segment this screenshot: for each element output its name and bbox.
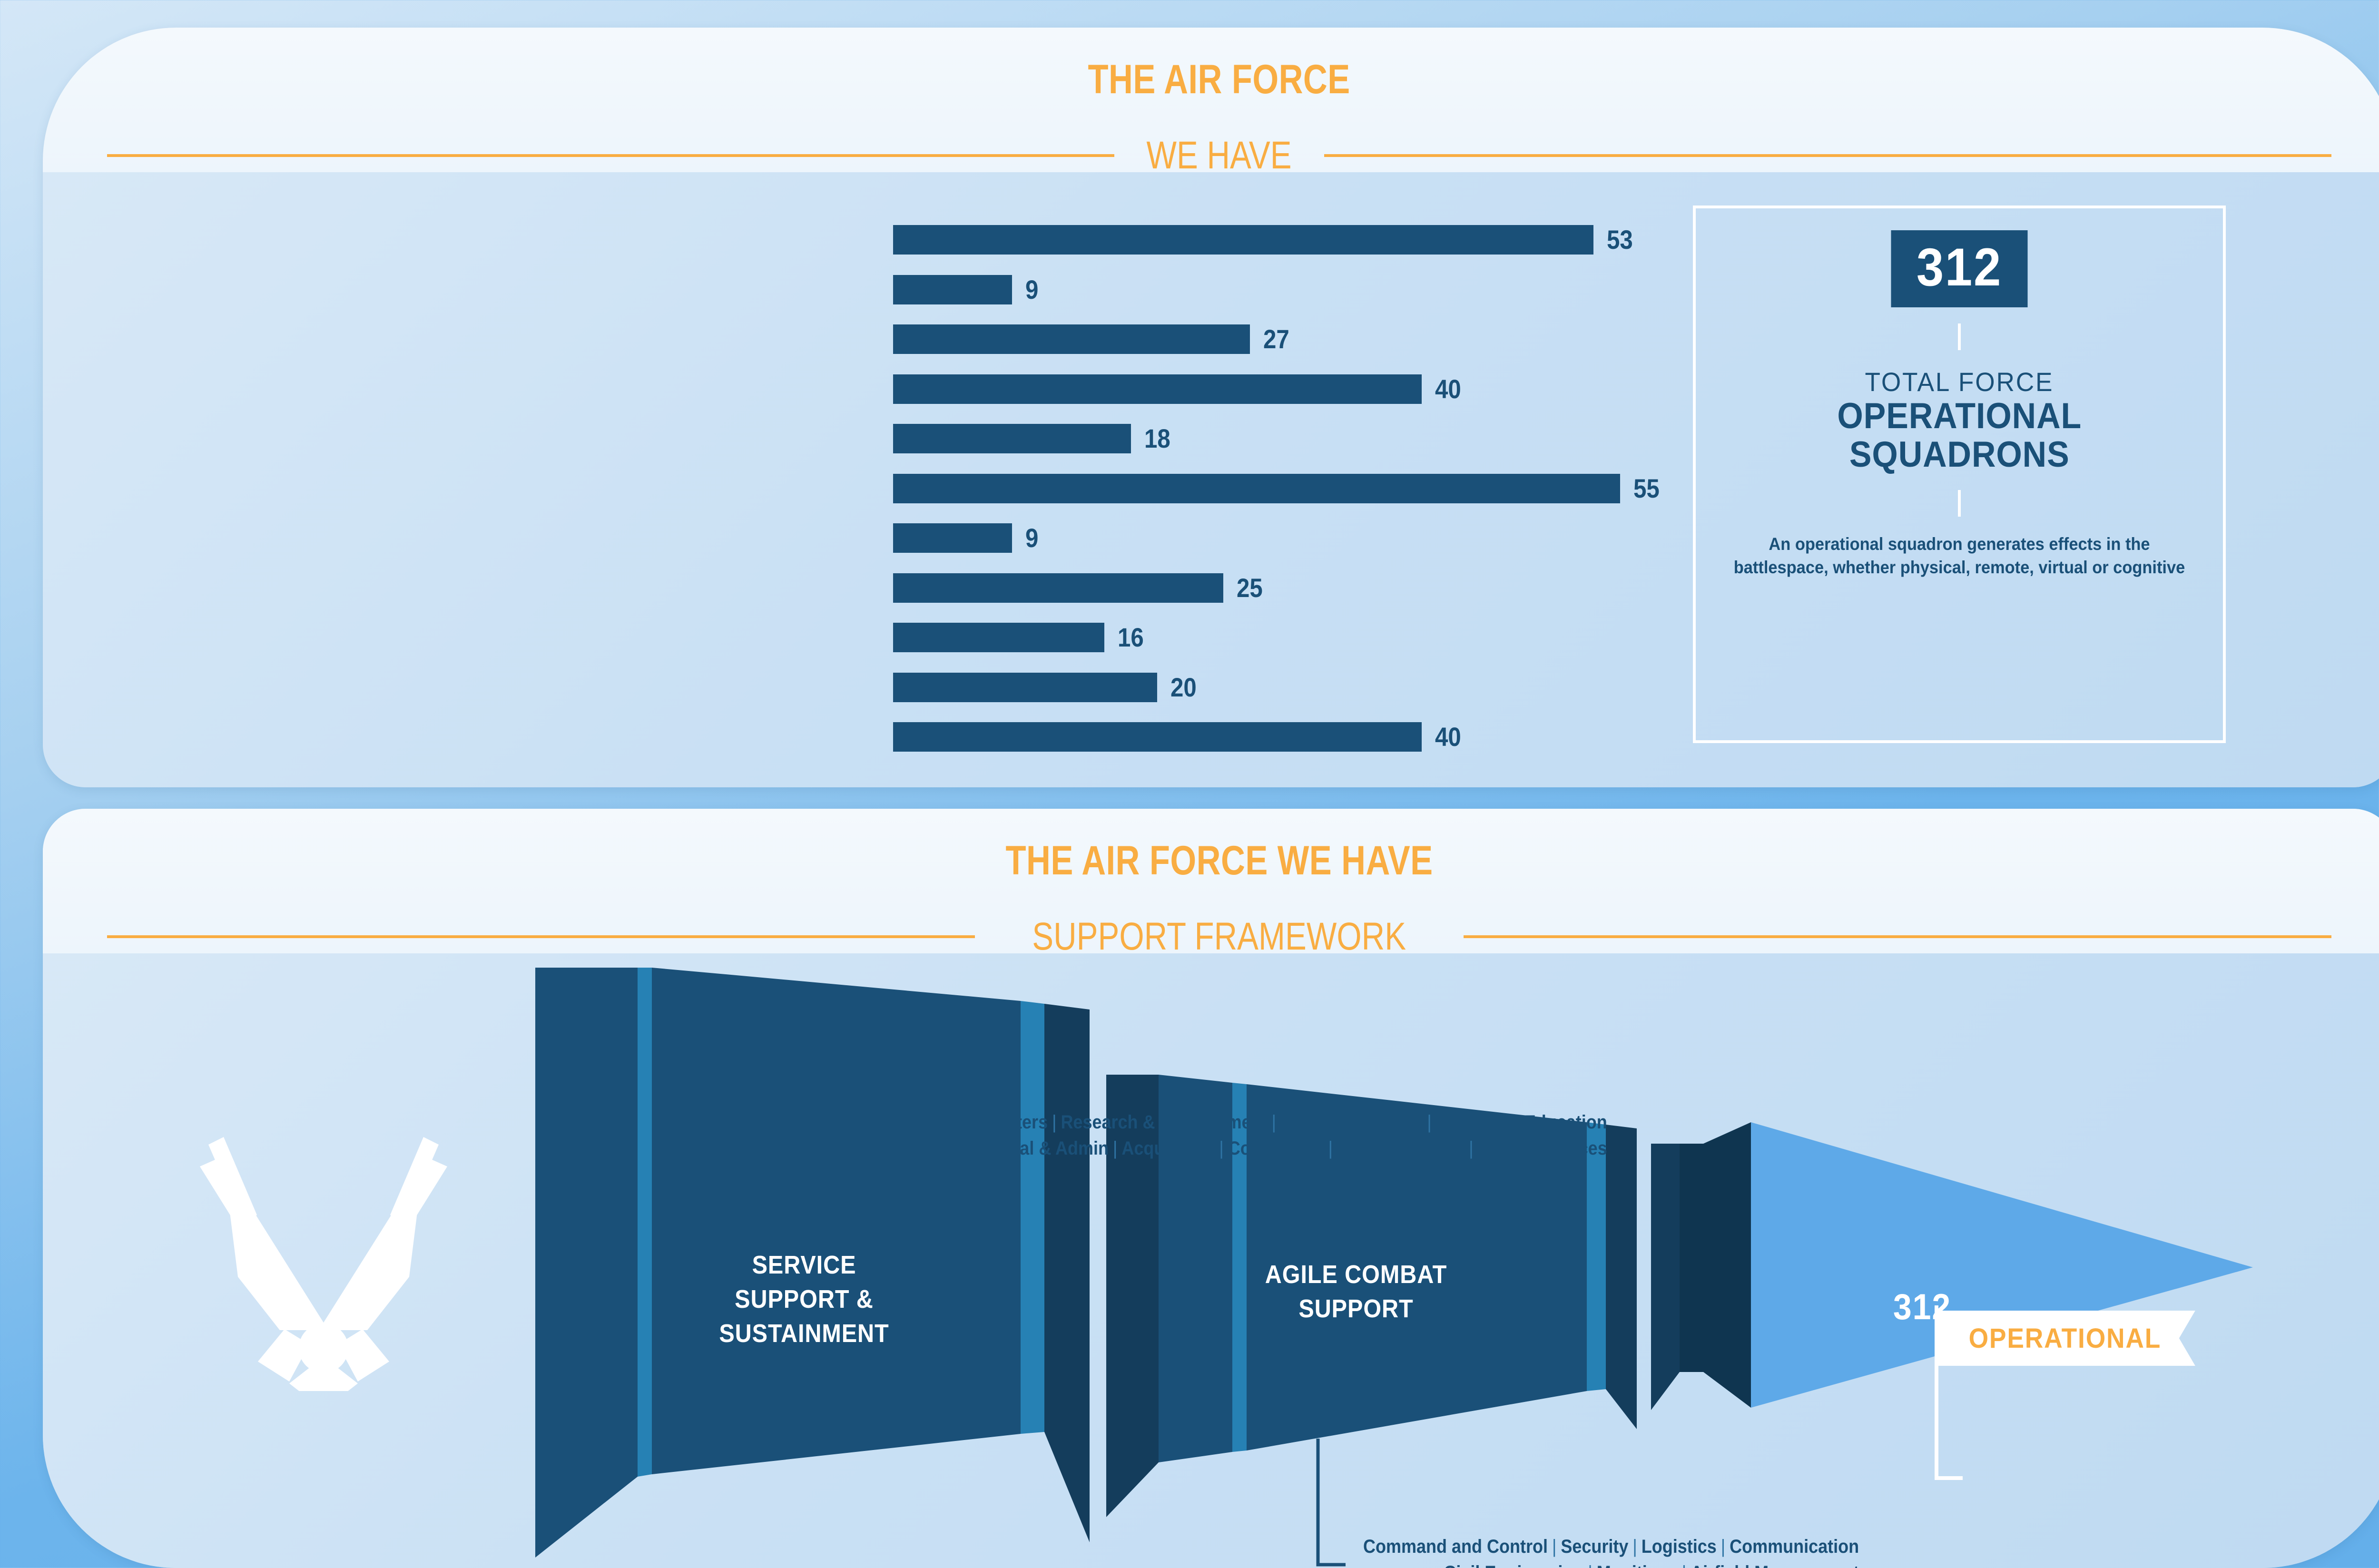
callout-line: Legal & Admin|Acquisition|Contracting|He… — [937, 1136, 1607, 1162]
funnel-stage1-shadow — [1044, 1004, 1090, 1542]
operational-banner-label: OPERATIONAL — [1969, 1323, 2162, 1354]
funnel-stage1-face — [652, 968, 1021, 1474]
bar-value-label: 16 — [1118, 624, 1144, 651]
callout-item: Communication — [1730, 1536, 1859, 1557]
callout-separator: | — [1324, 1138, 1337, 1159]
callout-item: Legal & Admin — [989, 1138, 1109, 1159]
bar — [893, 673, 1157, 702]
callout-separator: | — [1548, 1536, 1561, 1557]
operational-squadrons-bar-chart: Airlift53Bombers9Combat Search & Rescue2… — [43, 172, 1756, 786]
callout-item: Training & Education — [1436, 1112, 1607, 1133]
operational-banner: OPERATIONAL — [1936, 1311, 2195, 1366]
bar-value-label: 40 — [1435, 376, 1461, 402]
bar-value-label: 55 — [1633, 475, 1660, 502]
callout-separator: | — [1109, 1138, 1121, 1159]
callout-item: Contracting — [1228, 1138, 1324, 1159]
callout-line: Civil Engineering|Munitions|Airfield Man… — [1363, 1560, 1859, 1568]
callout-service-support-items: Headquarters|Research & Development|Test… — [937, 1109, 1607, 1162]
air-force-we-have-card: THE AIR FORCE WE HAVE Airlift53Bombers9C… — [43, 28, 2379, 787]
bar — [893, 424, 1131, 453]
callout-separator: | — [1465, 1138, 1477, 1159]
connector-dash-top — [1958, 323, 1961, 350]
page-subtitle: WE HAVE — [1133, 136, 1305, 175]
bar — [893, 722, 1422, 752]
framework-subtitle: SUPPORT FRAMEWORK — [1019, 917, 1420, 956]
bar-value-label: 20 — [1170, 674, 1197, 701]
framework-title: THE AIR FORCE WE HAVE — [1006, 840, 1433, 881]
callout-item: Munitions — [1597, 1562, 1678, 1568]
bar — [893, 374, 1422, 404]
squadrons-label: SQUADRONS — [1837, 436, 2082, 474]
funnel-stage1-edge-left — [535, 968, 638, 1558]
rule-left — [107, 935, 975, 938]
total-force-panel: 312 TOTAL FORCE OPERATIONAL SQUADRONS An… — [1693, 206, 2226, 743]
callout-separator: | — [1423, 1112, 1435, 1133]
bar — [893, 225, 1593, 255]
bar-value-label: 9 — [1025, 525, 1038, 551]
bar — [893, 324, 1250, 354]
operational-squadron-definition: An operational squadron generates effect… — [1714, 533, 2204, 579]
bar — [893, 474, 1620, 503]
callout-leader-bottom — [1318, 1439, 1346, 1565]
rule-right — [1464, 935, 2331, 938]
funnel-stage2-shadow — [1606, 1125, 1637, 1429]
callout-separator: | — [1048, 1112, 1061, 1133]
top-card-title-rule-row: WE HAVE — [43, 136, 2379, 175]
rule-left — [107, 154, 1114, 157]
bar-value-label: 9 — [1025, 276, 1038, 303]
callout-item: Research & Development — [1061, 1112, 1267, 1133]
funnel-stage2-label: AGILE COMBAT SUPPORT — [1262, 1258, 1450, 1326]
callout-separator: | — [1215, 1138, 1228, 1159]
callout-item: Airfield Management — [1691, 1562, 1859, 1568]
funnel-stage3-edge — [1651, 1144, 1680, 1410]
funnel-stage2-stripe2 — [1587, 1122, 1606, 1391]
callout-item: Acquisition — [1121, 1138, 1215, 1159]
funnel-stage1-stripe — [638, 968, 652, 1477]
callout-item: Health Services — [1337, 1138, 1465, 1159]
support-framework-card: THE AIR FORCE WE HAVE SUPPORT FRAMEWORK — [43, 809, 2379, 1568]
bar — [893, 275, 1012, 304]
callout-item: Test & Evaluation — [1280, 1112, 1423, 1133]
bar — [893, 623, 1104, 652]
bar-value-label: 53 — [1607, 226, 1633, 253]
callout-item: Logistics — [1642, 1536, 1717, 1557]
funnel-stage1-stripe2 — [1021, 1001, 1044, 1434]
connector-dash-bottom — [1958, 490, 1961, 517]
callout-line: Command and Control|Security|Logistics|C… — [1363, 1534, 1859, 1560]
bar — [893, 523, 1012, 553]
stage1-line3: SUSTAINMENT — [710, 1317, 898, 1351]
callout-separator: | — [1628, 1536, 1641, 1557]
bar-value-label: 27 — [1263, 326, 1289, 353]
stage1-line2: SUPPORT & — [710, 1283, 898, 1317]
page-title: THE AIR FORCE — [1088, 59, 1350, 100]
funnel-stage3-edge2 — [1680, 1144, 1703, 1372]
callout-separator: | — [1583, 1562, 1596, 1568]
stage2-line2: SUPPORT — [1262, 1292, 1450, 1326]
bottom-card-title-rule-row: SUPPORT FRAMEWORK — [43, 917, 2379, 956]
funnel-stage3-arrow-shadow — [1703, 1122, 1751, 1408]
bar — [893, 573, 1223, 603]
bar-value-label: 40 — [1435, 724, 1461, 750]
callout-item: Headquarters — [937, 1112, 1048, 1133]
total-force-number: 312 — [1891, 230, 2028, 307]
callout-agile-combat-items: Command and Control|Security|Logistics|C… — [1363, 1534, 1859, 1568]
support-framework-funnel: SERVICE SUPPORT & SUSTAINMENT AGILE COMB… — [43, 953, 2379, 1568]
total-force-label: TOTAL FORCE — [1865, 366, 2054, 397]
stage1-line1: SERVICE — [710, 1248, 898, 1283]
callout-item: Command and Control — [1363, 1536, 1548, 1557]
stage2-line1: AGILE COMBAT — [1262, 1258, 1450, 1292]
bar-value-label: 18 — [1144, 425, 1170, 452]
funnel-shapes — [43, 953, 2379, 1568]
callout-separator: | — [1717, 1536, 1730, 1557]
bar-value-label: 25 — [1237, 575, 1263, 601]
callout-separator: | — [1678, 1562, 1691, 1568]
callout-item: Civil Engineering — [1444, 1562, 1583, 1568]
operational-label: OPERATIONAL — [1837, 397, 2082, 436]
rule-right — [1324, 154, 2331, 157]
callout-separator: | — [1268, 1112, 1280, 1133]
callout-item: Security — [1561, 1536, 1628, 1557]
funnel-stage1-label: SERVICE SUPPORT & SUSTAINMENT — [710, 1248, 898, 1351]
callout-item: Family Services — [1478, 1138, 1607, 1159]
callout-line: Headquarters|Research & Development|Test… — [937, 1109, 1607, 1136]
